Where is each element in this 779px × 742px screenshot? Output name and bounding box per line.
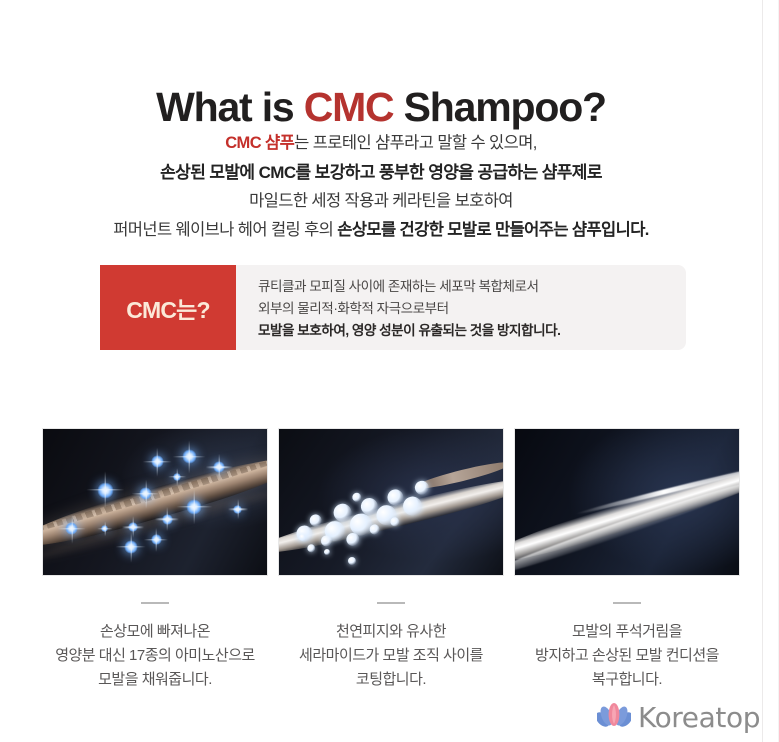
intro-paragraph: CMC 샴푸는 프로테인 샴푸라고 말할 수 있으며, 손상된 모발에 CMC를…: [0, 129, 762, 245]
caption-line-3: 모발을 채워줍니다.: [42, 668, 268, 692]
caption-line-3: 코팅합니다.: [278, 668, 504, 692]
damaged-hair-with-nutrient-sparkles-image: [42, 428, 268, 576]
watermark-brand-label: Koreatop: [638, 701, 760, 734]
cmc-description-line-2: 외부의 물리적·화학적 자극으로부터: [258, 298, 686, 320]
intro-line-1-highlight: CMC 샴푸: [225, 134, 294, 152]
cmc-description-line-3: 모발을 보호하여, 영양 성분이 유출되는 것을 방지합니다.: [258, 320, 686, 342]
intro-line-1: CMC 샴푸는 프로테인 샴푸라고 말할 수 있으며,: [0, 129, 762, 158]
intro-line-4-bold: 손상모를 건강한 모발로 만들어주는 샴푸입니다.: [337, 221, 649, 239]
caption-line-1: 천연피지와 유사한: [278, 620, 504, 644]
cmc-description: 큐티클과 모피질 사이에 존재하는 세포막 복합체로서 외부의 물리적·화학적 …: [236, 265, 686, 350]
caption-line-2: 세라마이드가 모발 조직 사이를: [278, 644, 504, 668]
intro-line-3: 마일드한 세정 작용과 케라틴을 보호하여: [0, 187, 762, 216]
cmc-badge-label: CMC는?: [126, 291, 210, 325]
feature-caption: 모발의 푸석거림을 방지하고 손상된 모발 컨디션을 복구합니다.: [514, 602, 740, 692]
intro-line-2: 손상된 모발에 CMC를 보강하고 풍부한 영양을 공급하는 샴푸제로: [0, 158, 762, 187]
page-edge-rule: [762, 0, 763, 742]
caption-text: 천연피지와 유사한 세라마이드가 모발 조직 사이를 코팅합니다.: [278, 620, 504, 692]
intro-line-4-normal: 퍼머넌트 웨이브나 헤어 컬링 후의: [113, 221, 337, 239]
caption-text: 손상모에 빠져나온 영양분 대신 17종의 아미노산으로 모발을 채워줍니다.: [42, 620, 268, 692]
page-title-after: Shampoo?: [393, 84, 605, 130]
feature-row: 손상모에 빠져나온 영양분 대신 17종의 아미노산으로 모발을 채워줍니다.: [42, 428, 732, 692]
feature-caption: 손상모에 빠져나온 영양분 대신 17종의 아미노산으로 모발을 채워줍니다.: [42, 602, 268, 692]
caption-line-3: 복구합니다.: [514, 668, 740, 692]
intro-line-4: 퍼머넌트 웨이브나 헤어 컬링 후의 손상모를 건강한 모발로 만들어주는 샴푸…: [0, 216, 762, 245]
caption-text: 모발의 푸석거림을 방지하고 손상된 모발 컨디션을 복구합니다.: [514, 620, 740, 692]
cmc-badge: CMC는?: [100, 265, 236, 350]
feature-item: 천연피지와 유사한 세라마이드가 모발 조직 사이를 코팅합니다.: [278, 428, 504, 692]
caption-divider: [613, 602, 641, 604]
caption-line-1: 모발의 푸석거림을: [514, 620, 740, 644]
caption-line-1: 손상모에 빠져나온: [42, 620, 268, 644]
hair-coated-with-ceramide-crystals-image: [278, 428, 504, 576]
page-title-accent: CMC: [304, 84, 394, 130]
page-title-before: What is: [156, 84, 304, 130]
feature-item: 모발의 푸석거림을 방지하고 손상된 모발 컨디션을 복구합니다.: [514, 428, 740, 692]
cmc-description-line-1: 큐티클과 모피질 사이에 존재하는 세포막 복합체로서: [258, 276, 686, 298]
caption-line-2: 영양분 대신 17종의 아미노산으로: [42, 644, 268, 668]
page-title: What is CMC Shampoo?: [0, 84, 762, 131]
cmc-definition-banner: CMC는? 큐티클과 모피질 사이에 존재하는 세포막 복합체로서 외부의 물리…: [100, 265, 686, 350]
caption-divider: [141, 602, 169, 604]
feature-caption: 천연피지와 유사한 세라마이드가 모발 조직 사이를 코팅합니다.: [278, 602, 504, 692]
intro-line-1-rest: 는 프로테인 샴푸라고 말할 수 있으며,: [294, 134, 537, 152]
smooth-glossy-healthy-hair-image: [514, 428, 740, 576]
caption-divider: [377, 602, 405, 604]
koreatop-watermark: Koreatop: [597, 700, 760, 735]
lotus-flower-logo-icon: [597, 700, 631, 735]
caption-line-2: 방지하고 손상된 모발 컨디션을: [514, 644, 740, 668]
feature-item: 손상모에 빠져나온 영양분 대신 17종의 아미노산으로 모발을 채워줍니다.: [42, 428, 268, 692]
product-detail-page: What is CMC Shampoo? CMC 샴푸는 프로테인 샴푸라고 말…: [0, 0, 762, 742]
